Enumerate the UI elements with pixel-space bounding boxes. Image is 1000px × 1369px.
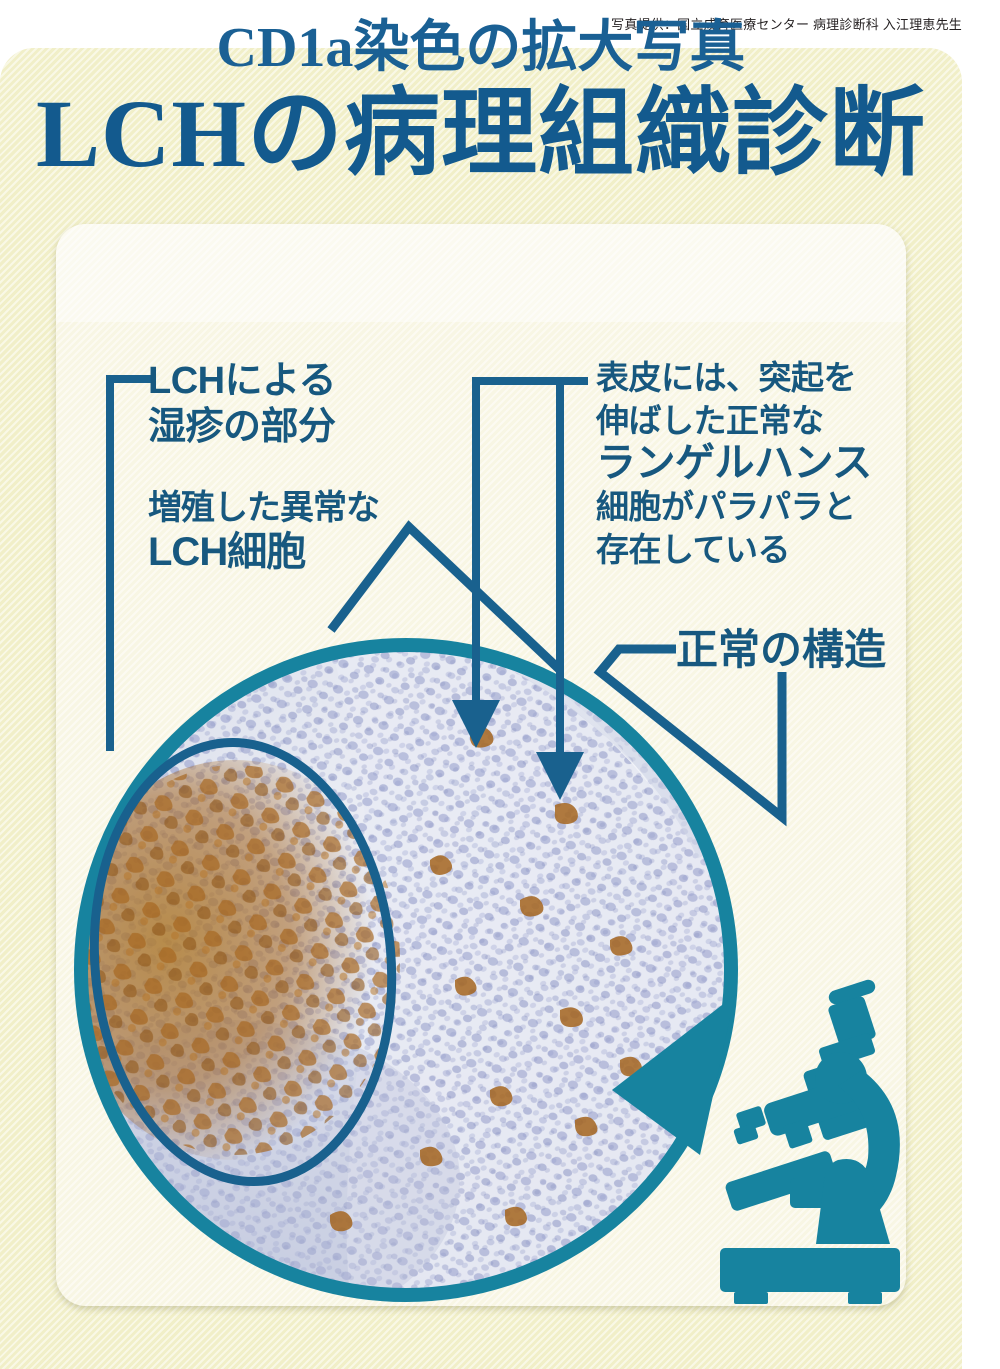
card-header-band xyxy=(56,224,906,322)
card-title: CD1a染色の拡大写真 xyxy=(56,16,906,80)
annotation-lch-cells-line1: 増殖した異常な xyxy=(148,486,448,530)
annotation-lch-cells: 増殖した異常な LCH細胞 xyxy=(148,486,448,574)
annotation-epidermis-line1: 表皮には、突起を xyxy=(596,356,936,399)
annotation-lch-eczema: LCHによる 湿疹の部分 xyxy=(148,358,448,450)
annotation-lch-cells-line2: LCH細胞 xyxy=(148,530,448,574)
annotation-epidermis-line3: ランゲルハンス xyxy=(596,442,936,485)
annotation-epidermis-line2: 伸ばした正常な xyxy=(596,399,936,442)
annotation-epidermis: 表皮には、突起を 伸ばした正常な ランゲルハンス 細胞がパラパラと 存在している xyxy=(596,356,936,571)
annotation-lch-eczema-line2: 湿疹の部分 xyxy=(148,404,448,450)
annotation-epidermis-line5: 存在している xyxy=(596,528,936,571)
annotation-lch-eczema-line1: LCHによる xyxy=(148,358,448,404)
annotation-epidermis-line4: 細胞がパラパラと xyxy=(596,485,936,528)
page-title: LCHの病理組織診断 xyxy=(0,82,962,186)
annotation-normal-structure: 正常の構造 xyxy=(676,626,956,676)
